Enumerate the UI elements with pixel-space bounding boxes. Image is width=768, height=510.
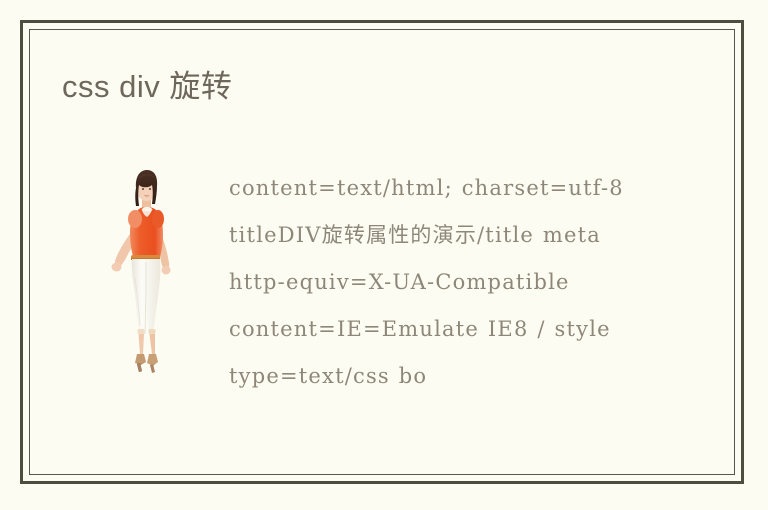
article-frame: css div 旋转 <box>20 20 744 484</box>
article-content: content=text/html; charset=utf-8 titleDI… <box>23 153 741 481</box>
article-thumbnail-image <box>111 166 181 378</box>
article-body-text: content=text/html; charset=utf-8 titleDI… <box>229 165 657 400</box>
page-title: css div 旋转 <box>62 67 232 107</box>
